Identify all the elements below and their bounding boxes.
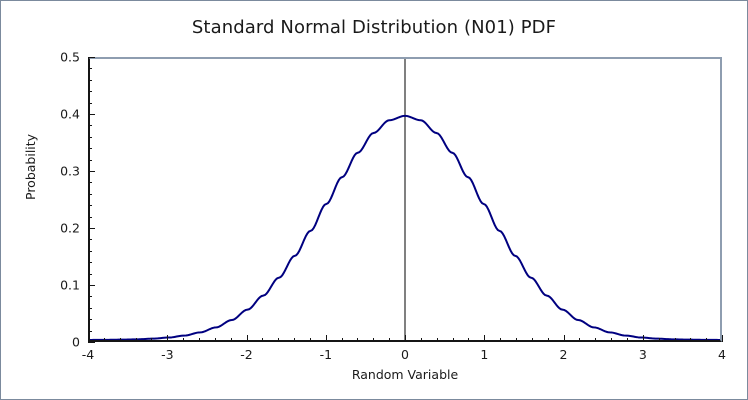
y-tick-major (88, 171, 95, 172)
y-tick-minor (88, 205, 92, 206)
y-tick-minor (88, 194, 92, 195)
x-tick-label: -2 (240, 347, 252, 362)
y-tick-label: 0.2 (60, 221, 80, 236)
y-tick-minor (88, 308, 92, 309)
y-tick-minor (88, 262, 92, 263)
y-tick-minor (88, 91, 92, 92)
y-axis-ticks (88, 57, 722, 342)
chart-title: Standard Normal Distribution (N01) PDF (1, 17, 747, 38)
y-tick-minor (88, 103, 92, 104)
y-tick-major (88, 285, 95, 286)
y-tick-minor (88, 137, 92, 138)
y-tick-label: 0.1 (60, 278, 80, 293)
x-tick-label: -3 (161, 347, 173, 362)
x-tick-label: 4 (718, 347, 726, 362)
y-tick-label: 0 (72, 335, 80, 350)
x-tick-label: -1 (320, 347, 332, 362)
y-tick-minor (88, 296, 92, 297)
y-tick-minor (88, 319, 92, 320)
y-tick-minor (88, 331, 92, 332)
y-tick-major (88, 114, 95, 115)
y-tick-minor (88, 125, 92, 126)
x-tick-label: 1 (480, 347, 488, 362)
x-tick-label: 2 (560, 347, 568, 362)
x-tick-label: -4 (82, 347, 94, 362)
y-tick-label: 0.3 (60, 164, 80, 179)
y-axis-title: Probability (23, 134, 38, 200)
y-tick-minor (88, 68, 92, 69)
y-tick-minor (88, 182, 92, 183)
y-tick-minor (88, 239, 92, 240)
y-tick-major (88, 57, 95, 58)
x-axis-title: Random Variable (88, 367, 722, 382)
x-tick-major (722, 335, 723, 342)
x-tick-label: 3 (639, 347, 647, 362)
chart-figure: Standard Normal Distribution (N01) PDF -… (0, 0, 748, 400)
y-tick-major (88, 228, 95, 229)
y-tick-minor (88, 251, 92, 252)
y-tick-label: 0.5 (60, 50, 80, 65)
x-tick-label: 0 (401, 347, 409, 362)
y-tick-minor (88, 160, 92, 161)
y-tick-minor (88, 217, 92, 218)
y-tick-minor (88, 274, 92, 275)
y-tick-label: 0.4 (60, 107, 80, 122)
y-tick-minor (88, 80, 92, 81)
y-tick-minor (88, 148, 92, 149)
y-tick-major (88, 342, 95, 343)
